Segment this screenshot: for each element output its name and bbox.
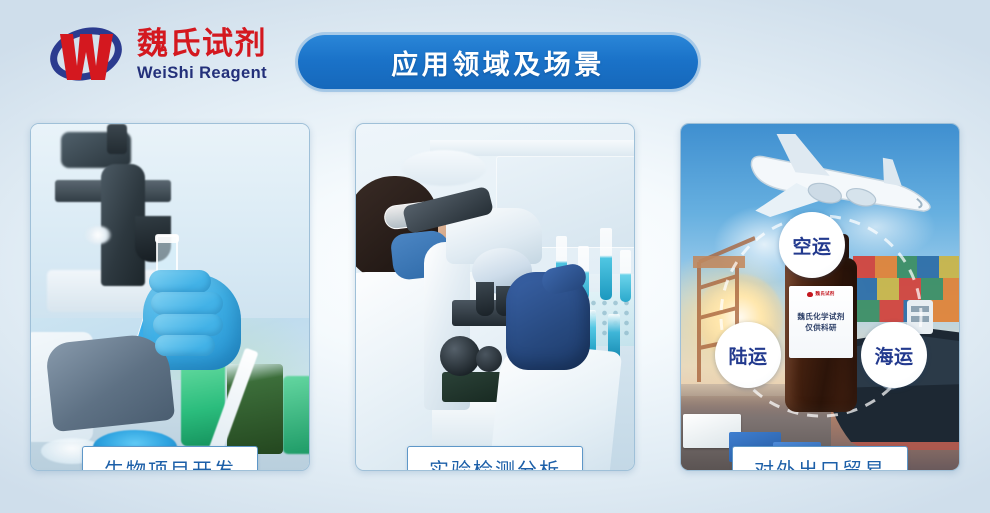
caption-text: 实验检测分析 [429,458,561,471]
card-foreign-export-trade[interactable]: 魏氏试剂 魏氏化学试剂 仅供科研 空运 陆运 海运 对外出口贸易 [680,123,960,471]
card-experimental-testing-analysis[interactable]: 实验检测分析 [355,123,635,471]
card-caption-bio-project-development: 生物项目开发 [82,446,258,471]
bottle-label-brand-text: 魏氏试剂 [815,291,834,297]
page-title: 应用领域及场景 [391,43,605,82]
poster-page: 魏氏试剂 WeiShi Reagent 应用领域及场景 [0,0,990,513]
card-image-experimental-testing-analysis [356,124,634,470]
card-image-bio-project-development [31,124,309,470]
bottle-label-line1: 魏氏化学试剂 [797,312,844,322]
brand-name-en: WeiShi Reagent [137,63,267,84]
badge-label: 海运 [874,342,913,369]
card-image-foreign-export-trade: 魏氏试剂 魏氏化学试剂 仅供科研 空运 陆运 海运 [681,124,959,470]
brand-text: 魏氏试剂 WeiShi Reagent [137,26,267,84]
brand-name-cn: 魏氏试剂 [137,28,267,61]
weishi-w-swoosh-logo-icon [807,292,813,297]
badge-label: 空运 [792,232,831,259]
bottle-label: 魏氏试剂 魏氏化学试剂 仅供科研 [789,286,853,358]
page-header: 魏氏试剂 WeiShi Reagent 应用领域及场景 [0,0,990,118]
brand-logo: 魏氏试剂 WeiShi Reagent [44,22,267,88]
badge-air-freight: 空运 [779,212,845,278]
caption-text: 对外出口贸易 [754,458,886,471]
caption-text: 生物项目开发 [104,458,236,471]
card-caption-foreign-export-trade: 对外出口贸易 [732,446,908,471]
bottle-label-brand: 魏氏试剂 [807,291,834,297]
badge-land-freight: 陆运 [715,322,781,388]
bottle-label-line2: 仅供科研 [805,323,837,333]
card-bio-project-development[interactable]: 生物项目开发 [30,123,310,471]
card-caption-experimental-testing-analysis: 实验检测分析 [407,446,583,471]
badge-sea-freight: 海运 [861,322,927,388]
badge-label: 陆运 [728,342,767,369]
section-title-banner: 应用领域及场景 [298,35,698,89]
application-cards: 生物项目开发 [0,123,990,471]
weishi-w-swoosh-logo-icon [44,22,128,88]
